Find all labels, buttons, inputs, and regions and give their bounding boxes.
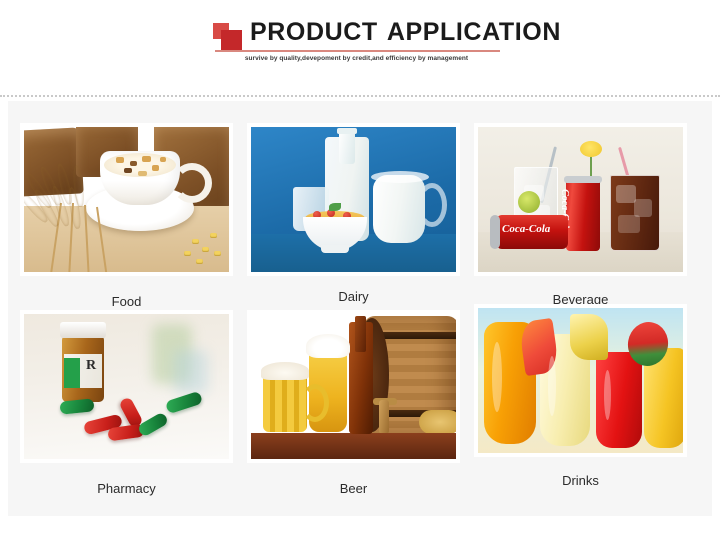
product-card-beverage[interactable]: Coca-Cola Coca-Cola Beverage: [474, 123, 687, 308]
thumbnail-image-drinks: [478, 308, 683, 453]
two-red-squares-logo-icon: [213, 23, 245, 51]
prescription-letter-r: R: [86, 358, 96, 374]
card-caption-dairy: Dairy: [247, 276, 460, 305]
page-title-word-product: PRODUCT: [250, 18, 378, 46]
thumbnail-frame-dairy[interactable]: [247, 123, 460, 276]
card-caption-beer: Beer: [247, 463, 460, 497]
drinks-illustration: [478, 308, 683, 453]
dairy-illustration: [251, 127, 456, 272]
coke-logo-lying-can: Coca-Cola: [502, 223, 550, 235]
thumbnail-image-dairy: [251, 127, 456, 272]
product-card-drinks[interactable]: Drinks: [474, 304, 687, 489]
title-underline-rule: [215, 50, 500, 52]
header-divider: [0, 95, 720, 97]
thumbnail-frame-beer[interactable]: [247, 310, 460, 463]
page-title: PRODUCTAPPLICATION: [250, 17, 561, 47]
thumbnail-image-beer: [251, 314, 456, 459]
brand-logo-block: PRODUCTAPPLICATION survive by quality,de…: [213, 17, 500, 73]
beer-illustration: [251, 314, 456, 459]
thumbnail-image-pharmacy: R: [24, 314, 229, 459]
page-title-word-application: APPLICATION: [387, 18, 561, 46]
product-card-beer[interactable]: Beer: [247, 310, 460, 497]
thumbnail-image-beverage: Coca-Cola Coca-Cola: [478, 127, 683, 272]
pharmacy-illustration: R: [24, 314, 229, 459]
card-caption-pharmacy: Pharmacy: [20, 463, 233, 497]
thumbnail-image-food: [24, 127, 229, 272]
product-application-panel: Food: [8, 101, 712, 516]
card-caption-drinks: Drinks: [474, 457, 687, 489]
beverage-illustration: Coca-Cola Coca-Cola: [478, 127, 683, 272]
card-caption-food: Food: [20, 276, 233, 310]
thumbnail-frame-pharmacy[interactable]: R: [20, 310, 233, 463]
thumbnail-frame-drinks[interactable]: [474, 304, 687, 457]
thumbnail-frame-food[interactable]: [20, 123, 233, 276]
page-header: PRODUCTAPPLICATION survive by quality,de…: [0, 0, 720, 96]
page-subtitle: survive by quality,devepoment by credit,…: [213, 53, 500, 65]
product-grid: Food: [8, 101, 712, 516]
product-card-food[interactable]: Food: [20, 123, 233, 310]
food-illustration: [24, 127, 229, 272]
product-card-pharmacy[interactable]: R Pharmacy: [20, 310, 233, 497]
logo-square-front-icon: [221, 30, 242, 51]
product-card-dairy[interactable]: Dairy: [247, 123, 460, 305]
thumbnail-frame-beverage[interactable]: Coca-Cola Coca-Cola: [474, 123, 687, 276]
